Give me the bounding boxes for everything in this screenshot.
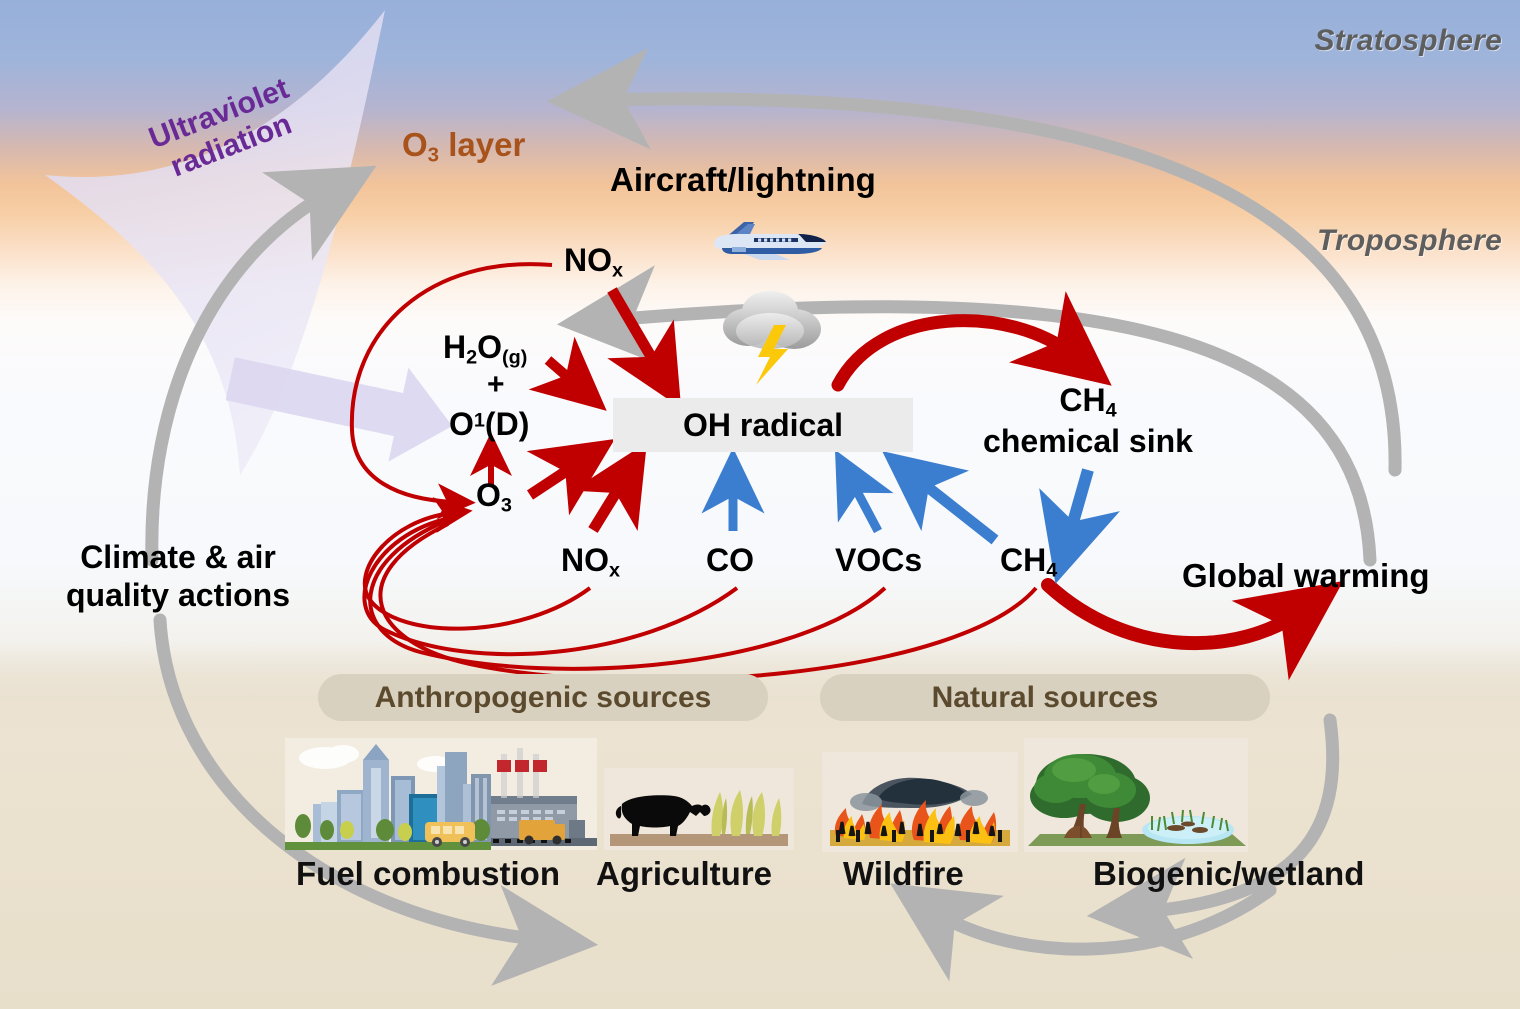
nox-stratospheric-label: NOx (564, 242, 623, 283)
h2o-o: O (477, 329, 502, 365)
water-vapour-label: H2O(g) (443, 329, 527, 370)
nox-bottom-subscript: x (609, 560, 620, 582)
agriculture-caption: Agriculture (596, 855, 772, 893)
blue-arrow-ch4-sink-to-ch4 (1068, 470, 1088, 540)
global-warming-label: Global warming (1182, 557, 1430, 595)
o3-layer-base: O (402, 126, 428, 163)
o1d-rest: (D) (485, 406, 529, 442)
o3-layer-rest: layer (439, 126, 525, 163)
nox-top-subscript: x (612, 260, 623, 282)
ozone-label: O3 (476, 477, 512, 518)
climate-actions-line-2: quality actions (66, 577, 290, 613)
red-arrow-oh-to-ch4-sink (838, 321, 1073, 385)
h2o-h: H (443, 329, 466, 365)
red-arc-nox-top-to-o3 (352, 264, 552, 502)
gray-arrow-to-o3-layer (152, 192, 330, 560)
ch4-sink-base: CH (1059, 382, 1105, 418)
natural-sources-pill: Natural sources (820, 674, 1270, 721)
fuel-combustion-caption: Fuel combustion (296, 855, 560, 893)
o3-subscript: 3 (501, 495, 512, 517)
biogenic-wetland-icon (1024, 738, 1248, 852)
red-arrow-nox-top-to-oh (612, 290, 660, 372)
diagram-canvas: Stratosphere Troposphere Ultraviolet rad… (0, 0, 1520, 1009)
methane-emission-label: CH4 (1000, 542, 1057, 583)
vocs-label: VOCs (835, 542, 922, 579)
o3-layer-label: O3 layer (402, 126, 525, 168)
wildfire-caption: Wildfire (843, 855, 964, 893)
troposphere-label: Troposphere (1317, 224, 1502, 258)
thundercloud-icon (718, 285, 828, 390)
climate-actions-line-1: Climate & air (80, 539, 276, 575)
stratosphere-label: Stratosphere (1315, 24, 1502, 58)
red-arc-nox-bottom-to-o3 (365, 513, 590, 629)
ch4-bottom-subscript: 4 (1046, 560, 1057, 582)
city-skyline-icon (285, 738, 597, 850)
nox-emission-label: NOx (561, 542, 620, 583)
red-arc-vocs-to-o3 (370, 521, 885, 669)
plus-sign-label: + (487, 368, 505, 402)
natural-sources-label: Natural sources (932, 681, 1159, 715)
excited-oxygen-label: O1(D) (449, 406, 529, 443)
ch4-bottom-base: CH (1000, 542, 1046, 578)
oh-radical-label: OH radical (683, 407, 843, 444)
o3-layer-subscript: 3 (428, 144, 439, 167)
biogenic-wetland-caption: Biogenic/wetland (1093, 855, 1364, 893)
nox-top-base: NO (564, 242, 612, 278)
ch4-chemical-sink-label: CH4 chemical sink (958, 382, 1218, 461)
h2o-sub-2: 2 (466, 347, 477, 369)
wildfire-icon (822, 752, 1018, 852)
o1d-o: O (449, 406, 474, 442)
o3-o: O (476, 477, 501, 513)
ch4-sink-subscript: 4 (1106, 400, 1117, 422)
o1d-superscript: 1 (474, 410, 485, 432)
anthropogenic-sources-pill: Anthropogenic sources (318, 674, 768, 721)
anthropogenic-sources-label: Anthropogenic sources (375, 681, 712, 715)
aircraft-lightning-label: Aircraft/lightning (610, 161, 876, 199)
blue-arrow-ch4-to-oh (915, 477, 995, 540)
h2o-phase-gas: (g) (502, 347, 527, 369)
agriculture-icon (604, 768, 794, 850)
oh-radical-box: OH radical (613, 398, 913, 452)
red-arrow-nox-bottom-to-oh (593, 478, 625, 530)
red-arrow-h2o-o1d-to-oh (548, 360, 578, 386)
climate-air-quality-actions-label: Climate & air quality actions (53, 538, 303, 615)
carbon-monoxide-label: CO (706, 542, 754, 579)
airplane-icon (702, 204, 832, 266)
blue-arrow-vocs-to-oh (851, 480, 878, 531)
ch4-sink-line-2: chemical sink (983, 423, 1193, 459)
nox-bottom-base: NO (561, 542, 609, 578)
red-arrow-o3-to-oh (530, 462, 580, 495)
